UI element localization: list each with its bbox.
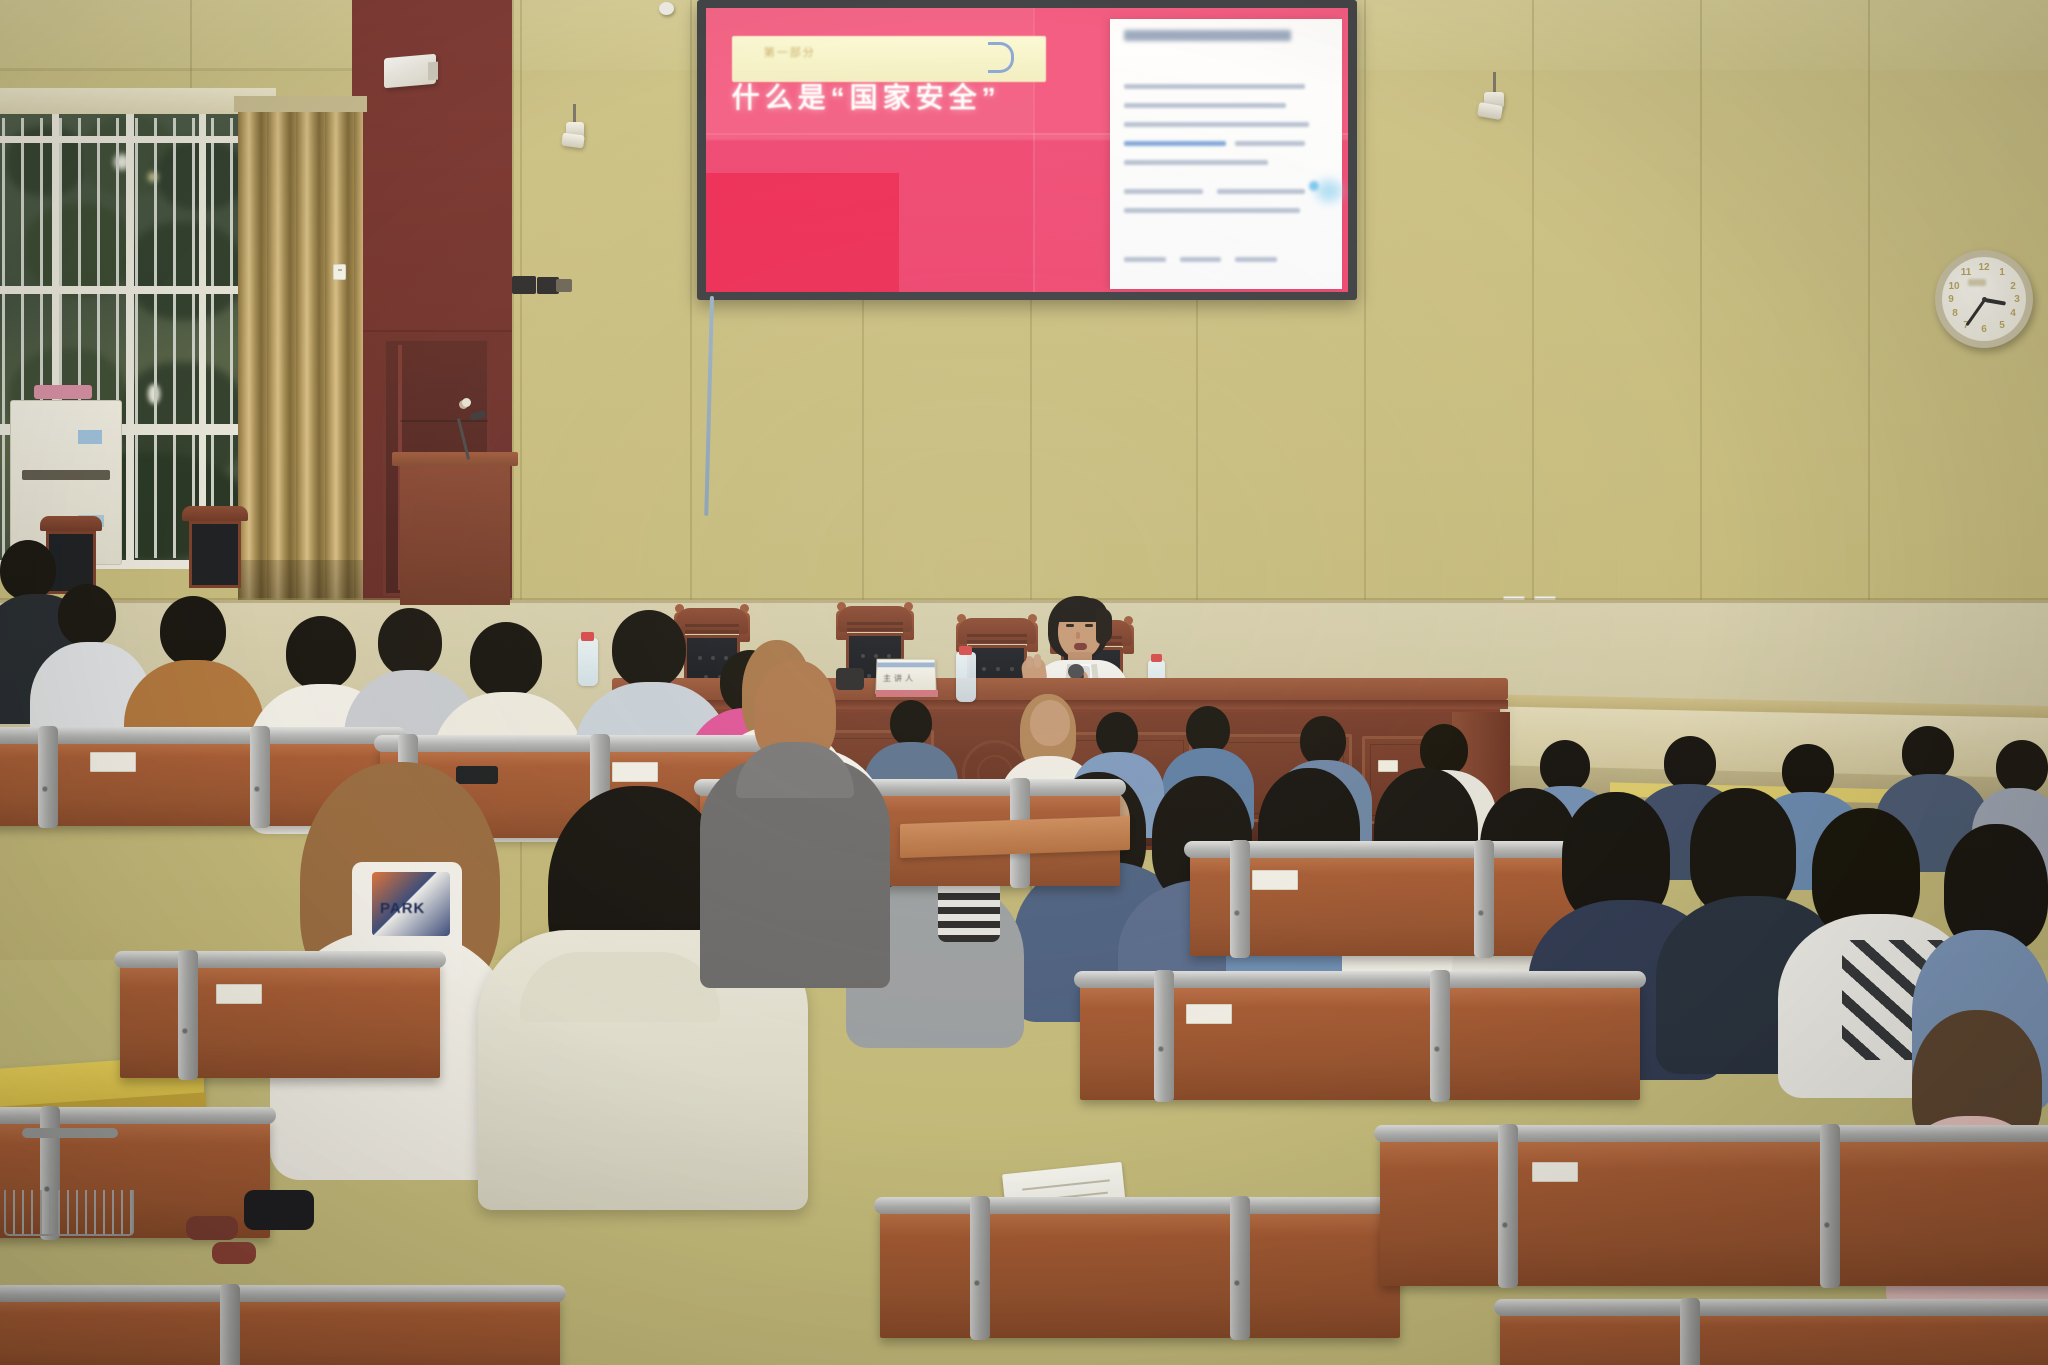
clock-minute-hand [1965,299,1985,326]
clock-numeral: 11 [1960,267,1972,278]
water-bottle [578,638,598,686]
wall-sensor-icon [462,398,471,407]
clock-numeral: 1 [1996,267,2008,278]
air-conditioner-vent [22,470,110,480]
display-screen[interactable]: 第一部分 什么是“国家安全” [706,8,1348,292]
window-security-bar [2,118,5,558]
bag [244,1190,314,1230]
window-mullion [199,112,206,564]
window-security-bar [211,118,214,558]
shoe [186,1216,238,1240]
air-conditioner-badge [78,430,102,444]
microphone-head-icon [1068,664,1084,679]
phone [456,766,498,784]
back-chair [182,506,248,588]
pilaster-seam [352,330,512,332]
bench-row [0,1296,560,1365]
bottle-cap [581,632,594,641]
under-desk-basket [4,1190,134,1236]
bench-row [1500,1310,2048,1365]
dome-camera-icon [659,2,674,15]
wall-speaker-black-icon [512,276,536,294]
clock-numeral: 2 [2007,281,2019,292]
window-security-bar [173,118,176,558]
wall-panel-seam [190,0,192,100]
door-panel-line [400,420,488,422]
rostrum-tag [1378,760,1398,772]
window-security-bar [230,118,233,558]
bench-row [1080,982,1640,1100]
side-lectern [400,455,510,605]
lecture-hall-photo: 第一部分 什么是“国家安全” 12 1 2 3 4 5 6 7 [0,0,2048,1365]
lectern-top [392,452,518,466]
slide-ribbon-label: 第一部分 [764,44,816,60]
speaker-bracket [428,62,438,81]
bench-bracket [22,1128,118,1138]
clock-center-pin [1982,297,1987,302]
wall-panel-seam [0,68,352,71]
clock-numeral: 6 [1978,324,1990,335]
bench-row [1380,1136,2048,1286]
clock-numeral: 3 [2011,294,2023,305]
clock-numeral: 10 [1948,281,1960,292]
clock-numeral: 12 [1978,262,1990,273]
name-plate-text: 主讲人 [883,673,916,684]
desk-microphone-base [836,668,864,690]
wall-switch-icon[interactable] [333,264,346,280]
window-mullion [126,112,134,564]
bench-row [120,962,440,1078]
water-bottle [956,652,976,702]
wall-bracket [556,279,572,292]
document-heading [1124,30,1290,41]
shoe [212,1242,256,1264]
bottle-cap [959,646,972,655]
clock-numeral: 5 [1996,320,2008,331]
clock-hour-hand [1985,298,2006,306]
bottle-cap [1151,654,1162,662]
bench-row [880,1208,1400,1338]
object-on-ac [34,385,92,399]
window-security-bar [135,118,138,558]
curtain-rail [234,96,367,112]
window-security-bar [154,118,157,558]
speaker-name-plate: 主讲人 [875,659,936,694]
screen-glare [1316,180,1342,202]
hoodie-hood [520,952,720,1022]
wall-panel-seam [512,0,514,640]
name-plate-base [876,690,938,697]
clock-brand-mark [1968,279,1986,286]
window-security-bar [192,118,195,558]
slide-document-card [1110,19,1341,289]
clock-numeral: 8 [1949,308,1961,319]
clock-numeral: 9 [1945,294,1957,305]
slide-title: 什么是“国家安全” [732,76,1117,116]
clock-numeral: 4 [2007,308,2019,319]
